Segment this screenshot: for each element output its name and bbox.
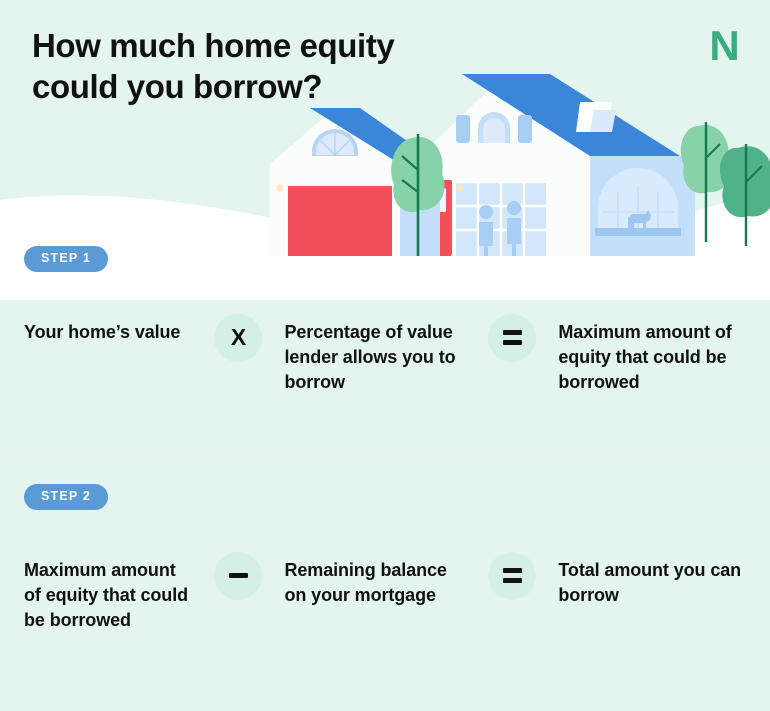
equals-glyph xyxy=(503,330,522,345)
page-title-line-2: could you borrow? xyxy=(32,68,322,105)
step-2-term-3: Total amount you can borrow xyxy=(558,552,746,608)
page-title: How much home equity could you borrow? xyxy=(32,25,502,107)
step-1-term-3: Maximum amount of equity that could be b… xyxy=(558,314,746,395)
equals-icon xyxy=(488,314,536,362)
multiply-icon: X xyxy=(214,314,262,362)
multiply-glyph: X xyxy=(231,326,246,349)
equals-bar-bottom xyxy=(503,578,522,583)
step-1-section: STEP 1 Your home’s value X Percentage of… xyxy=(0,246,770,395)
equals-bar-top xyxy=(503,330,522,335)
step-1-badge: STEP 1 xyxy=(24,246,108,272)
chimney-shade xyxy=(590,110,616,132)
equals-bar-top xyxy=(503,568,522,573)
step-1-term-2: Percentage of value lender allows you to… xyxy=(284,314,466,395)
equals-glyph xyxy=(503,568,522,583)
step-2-term-2: Remaining balance on your mortgage xyxy=(284,552,466,608)
step-2-term-1: Maximum amount of equity that could be b… xyxy=(24,552,192,633)
step-2-section: STEP 2 Maximum amount of equity that cou… xyxy=(0,484,770,633)
nerdwallet-logo: N xyxy=(704,26,744,66)
step-2-formula: Maximum amount of equity that could be b… xyxy=(0,552,770,633)
gable-window-left xyxy=(456,115,470,143)
step-1-formula: Your home’s value X Percentage of value … xyxy=(0,314,770,395)
section-divider xyxy=(0,451,770,452)
logo-letter-n: N xyxy=(704,26,744,66)
window-sill xyxy=(595,228,681,236)
gable-window-right xyxy=(518,115,532,143)
step-2-operator-2-wrap xyxy=(466,552,558,600)
minus-icon xyxy=(214,552,262,600)
gable-window-arch-inner xyxy=(483,118,505,143)
equals-bar-bottom xyxy=(503,340,522,345)
step-2-operator-1-wrap xyxy=(192,552,284,600)
minus-bar xyxy=(229,573,248,578)
step-2-badge: STEP 2 xyxy=(24,484,108,510)
page-title-line-1: How much home equity xyxy=(32,27,394,64)
step-1-operator-2-wrap xyxy=(466,314,558,362)
step-1-term-1: Your home’s value xyxy=(24,314,192,345)
step-1-operator-1-wrap: X xyxy=(192,314,284,362)
equals-icon xyxy=(488,552,536,600)
infographic-canvas: N How much home equity could you borrow?… xyxy=(0,0,770,711)
porch-light-door xyxy=(457,185,464,192)
porch-light-left xyxy=(277,185,284,192)
